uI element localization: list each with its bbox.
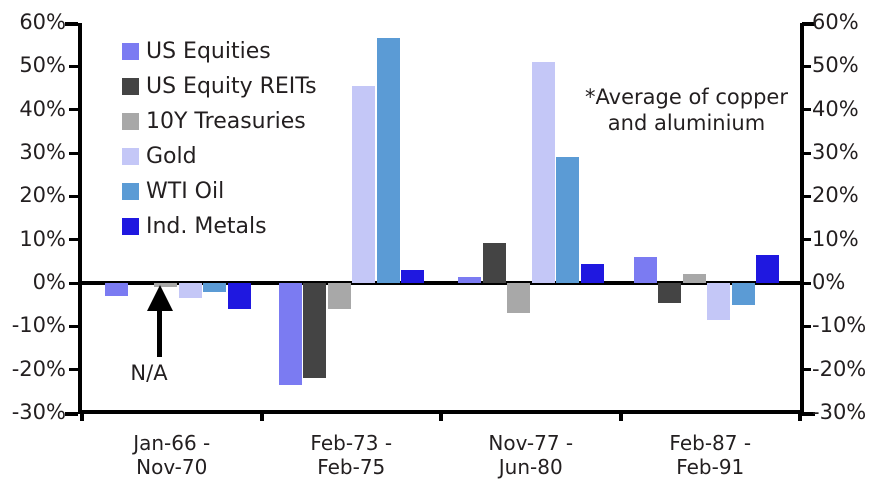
bar-us-equities [279,283,302,385]
y-tick-label-right: 10% [812,229,859,250]
na-annotation-group: N/A [118,285,188,405]
y-tick-left [69,238,78,241]
bar-10y-treasuries [328,283,351,309]
legend-swatch-icon [122,78,139,95]
y-tick-left [69,368,78,371]
bar-us-equity-reits [303,283,326,378]
bar-gold [352,86,375,283]
y-tick-label-left: -30% [12,402,66,423]
y-tick-left [69,108,78,111]
y-tick-label-right: 50% [812,55,859,76]
x-tick [439,410,443,421]
x-tick [80,410,84,421]
legend-item: US Equities [122,34,317,69]
legend-swatch-icon [122,43,139,60]
bar-chart: 60%60%50%50%40%40%30%30%20%20%10%10%0%0%… [0,0,880,500]
bar-10y-treasuries [507,283,530,313]
y-tick-left [65,22,78,26]
bar-wti-oil [377,38,400,283]
y-tick-label-left: 60% [19,12,66,33]
y-tick-right [802,238,811,241]
y-tick-label-left: -10% [12,315,66,336]
y-tick-right [802,65,811,68]
bar-us-equities [634,257,657,283]
bar-ind-metals [228,283,251,309]
y-tick-label-left: -20% [12,359,66,380]
legend-item: US Equity REITs [122,69,317,104]
y-tick-left [69,282,78,285]
y-tick-label-left: 10% [19,229,66,250]
y-tick-left [69,325,78,328]
bar-cluster [441,23,621,413]
y-tick-label-right: -20% [812,359,866,380]
y-tick-right [802,152,811,155]
y-tick-label-left: 50% [19,55,66,76]
legend-label: Gold [146,146,197,168]
y-tick-label-right: 60% [812,12,859,33]
x-axis-label: Feb-87 - Feb-91 [621,432,801,479]
legend-label: US Equities [146,41,271,63]
legend-swatch-icon [122,218,139,235]
legend-item: Ind. Metals [122,209,317,244]
legend-label: 10Y Treasuries [146,111,306,133]
x-axis-label: Nov-77 - Jun-80 [441,432,621,479]
y-tick-label-right: 30% [812,142,859,163]
y-tick-label-left: 30% [19,142,66,163]
x-tick [619,410,623,421]
y-tick-left [65,412,78,416]
x-axis-label: Jan-66 - Nov-70 [82,432,262,479]
x-tick [260,410,264,421]
bar-gold [532,62,555,283]
y-tick-right [802,282,811,285]
x-tick [798,410,802,421]
bar-wti-oil [556,157,579,283]
legend: US EquitiesUS Equity REITs10Y Treasuries… [122,34,317,244]
legend-swatch-icon [122,183,139,200]
legend-item: 10Y Treasuries [122,104,317,139]
y-tick-left [69,152,78,155]
footnote-annotation: *Average of copper and aluminium [569,84,804,137]
y-tick-label-right: 40% [812,99,859,120]
na-label: N/A [118,361,180,385]
legend-label: US Equity REITs [146,76,317,98]
y-tick-label-left: 40% [19,99,66,120]
y-tick-label-right: 0% [812,272,845,293]
legend-item: WTI Oil [122,174,317,209]
bar-us-equities [458,277,481,283]
bar-ind-metals [581,264,604,284]
y-tick-label-right: -30% [812,402,866,423]
bar-wti-oil [203,283,226,292]
y-tick-right [802,195,811,198]
legend-label: WTI Oil [146,181,224,203]
arrow-head [147,285,173,311]
legend-swatch-icon [122,113,139,130]
y-tick-label-right: 20% [812,185,859,206]
y-tick-right [802,325,811,328]
bar-us-equity-reits [658,283,681,303]
arrow-shaft [157,309,162,357]
y-axis-right-line [800,23,804,413]
y-tick-label-right: -10% [812,315,866,336]
y-tick-left [69,195,78,198]
bar-cluster [621,23,801,413]
bar-gold [707,283,730,320]
bar-wti-oil [732,283,755,305]
legend-item: Gold [122,139,317,174]
x-axis-label: Feb-73 - Feb-75 [262,432,442,479]
bar-ind-metals [756,255,779,283]
y-tick-left [69,65,78,68]
y-tick-right [802,368,811,371]
bar-10y-treasuries [683,274,706,283]
legend-label: Ind. Metals [146,216,267,238]
bar-us-equity-reits [483,243,506,283]
bar-ind-metals [401,270,424,283]
legend-swatch-icon [122,148,139,165]
y-tick-label-left: 0% [33,272,66,293]
y-tick-label-left: 20% [19,185,66,206]
